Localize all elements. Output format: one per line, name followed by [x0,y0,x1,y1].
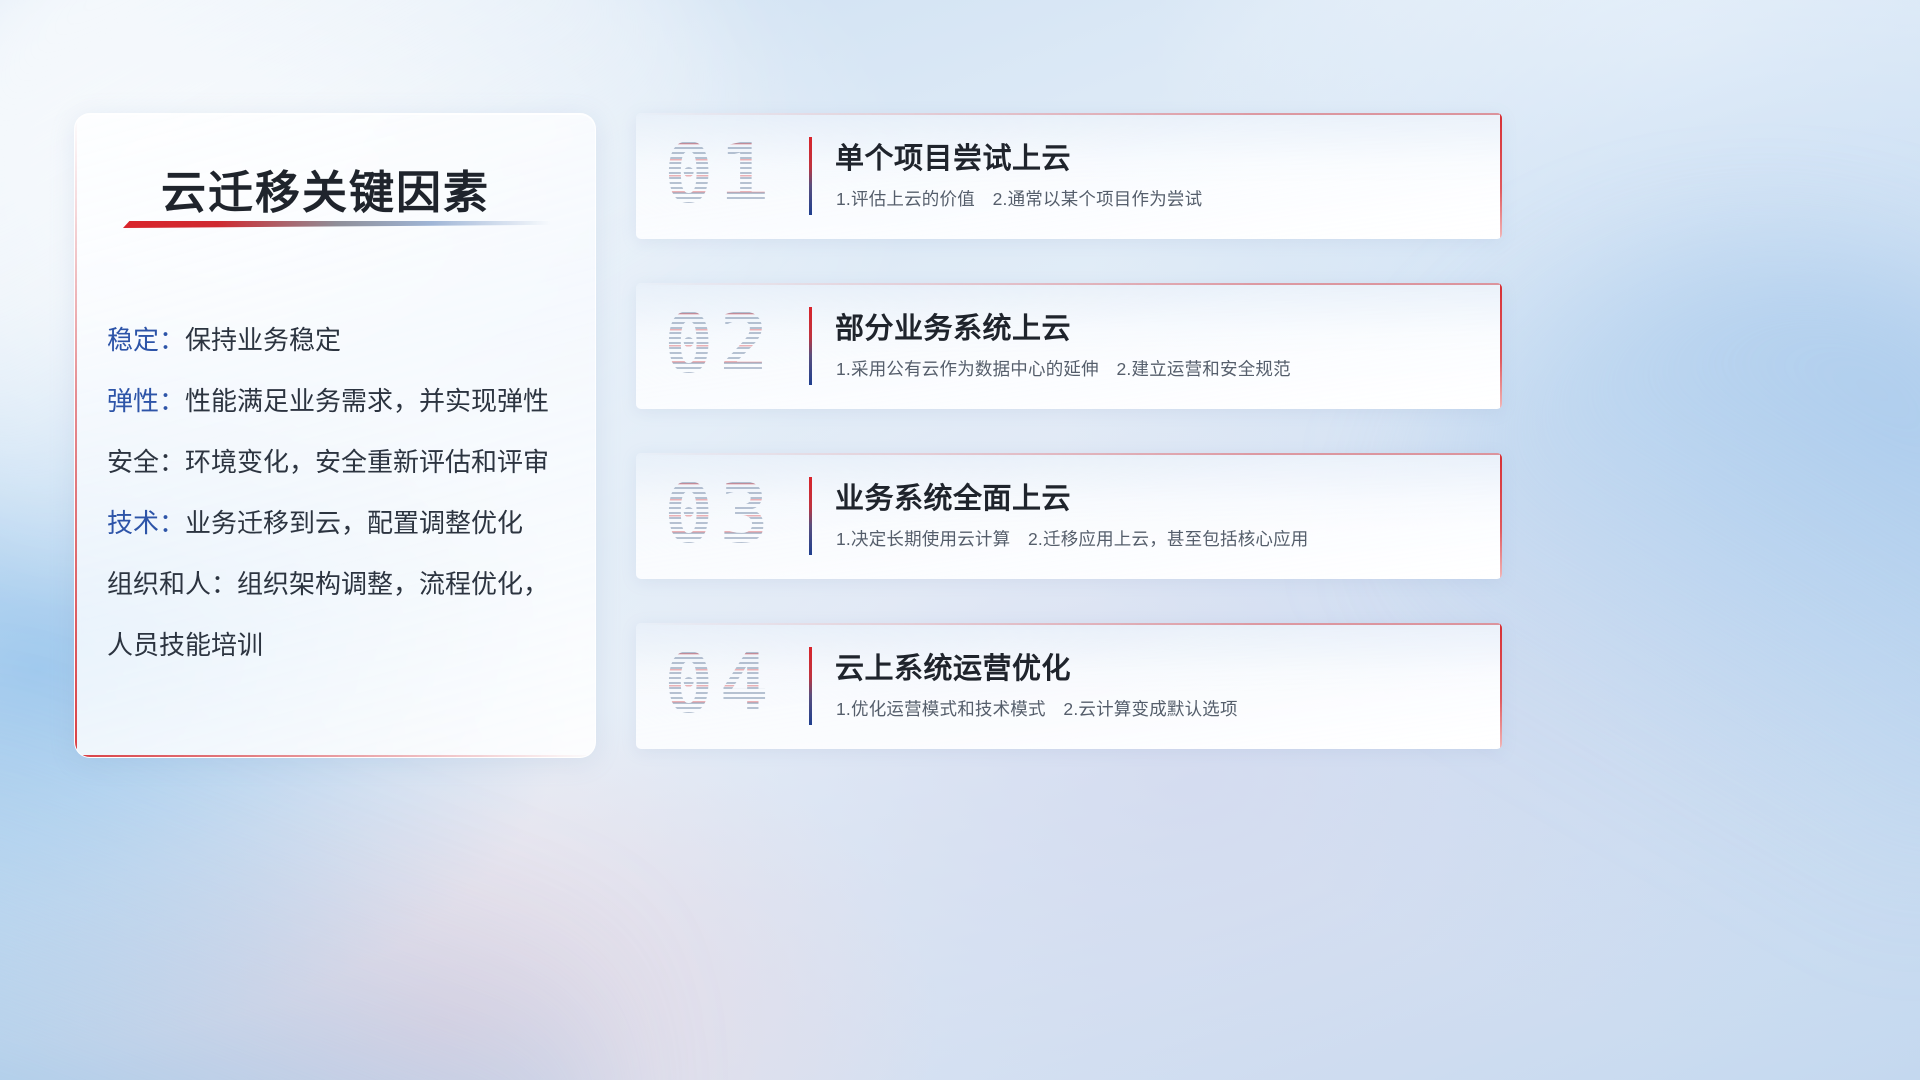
factor-item: 稳定：保持业务稳定 [107,310,569,371]
factor-item: 安全：环境变化，安全重新评估和评审 [107,432,569,493]
factor-value: 业务迁移到云，配置调整优化 [185,508,523,538]
stage-number-watermark-red: 02 [664,297,775,392]
stage-description: 1.采用公有云作为数据中心的延伸 2.建立运营和安全规范 [836,356,1291,381]
stage-accent-bar [809,137,812,215]
stage-accent-bar [809,307,812,385]
stage-card[interactable]: 0202部分业务系统上云1.采用公有云作为数据中心的延伸 2.建立运营和安全规范 [636,283,1502,409]
factor-item: 弹性：性能满足业务需求，并实现弹性 [107,371,569,432]
stage-accent-bar [809,647,812,725]
stage-number-watermark-red: 01 [664,127,775,222]
stage-title: 云上系统运营优化 [835,645,1071,687]
factor-list: 稳定：保持业务稳定弹性：性能满足业务需求，并实现弹性安全：环境变化，安全重新评估… [107,310,569,676]
factor-item: 组织和人：组织架构调整，流程优化，人员技能培训 [107,554,569,676]
title-underline-gradient [123,221,551,228]
stage-description: 1.决定长期使用云计算 2.迁移应用上云，甚至包括核心应用 [836,526,1309,551]
stage-description: 1.优化运营模式和技术模式 2.云计算变成默认选项 [836,696,1238,721]
stage-title: 业务系统全面上云 [835,475,1071,517]
stage-card[interactable]: 0404云上系统运营优化1.优化运营模式和技术模式 2.云计算变成默认选项 [636,623,1502,749]
stage-card-list: 0101单个项目尝试上云1.评估上云的价值 2.通常以某个项目作为尝试0202部… [636,113,1502,793]
factor-label: 稳定： [107,325,185,355]
stage-title: 部分业务系统上云 [835,305,1071,347]
factor-value: 保持业务稳定 [185,325,341,355]
factor-label: 技术： [107,508,185,538]
stage-accent-bar [809,477,812,555]
factor-item: 技术：业务迁移到云，配置调整优化 [107,493,569,554]
stage-title: 单个项目尝试上云 [835,135,1071,177]
stage-card[interactable]: 0303业务系统全面上云1.决定长期使用云计算 2.迁移应用上云，甚至包括核心应… [636,453,1502,579]
factor-label: 弹性： [107,386,185,416]
stage-number-watermark-red: 04 [664,637,775,732]
stage-number-watermark-red: 03 [664,467,775,562]
stage-card[interactable]: 0101单个项目尝试上云1.评估上云的价值 2.通常以某个项目作为尝试 [636,113,1502,239]
factor-value: 环境变化，安全重新评估和评审 [185,447,549,477]
factor-value: 性能满足业务需求，并实现弹性 [185,386,549,416]
factor-label: 安全： [107,447,185,477]
key-factors-panel: 云迁移关键因素 稳定：保持业务稳定弹性：性能满足业务需求，并实现弹性安全：环境变… [74,113,596,758]
factor-label: 组织和人： [107,569,237,599]
stage-description: 1.评估上云的价值 2.通常以某个项目作为尝试 [836,186,1202,211]
panel-title: 云迁移关键因素 [161,156,490,221]
